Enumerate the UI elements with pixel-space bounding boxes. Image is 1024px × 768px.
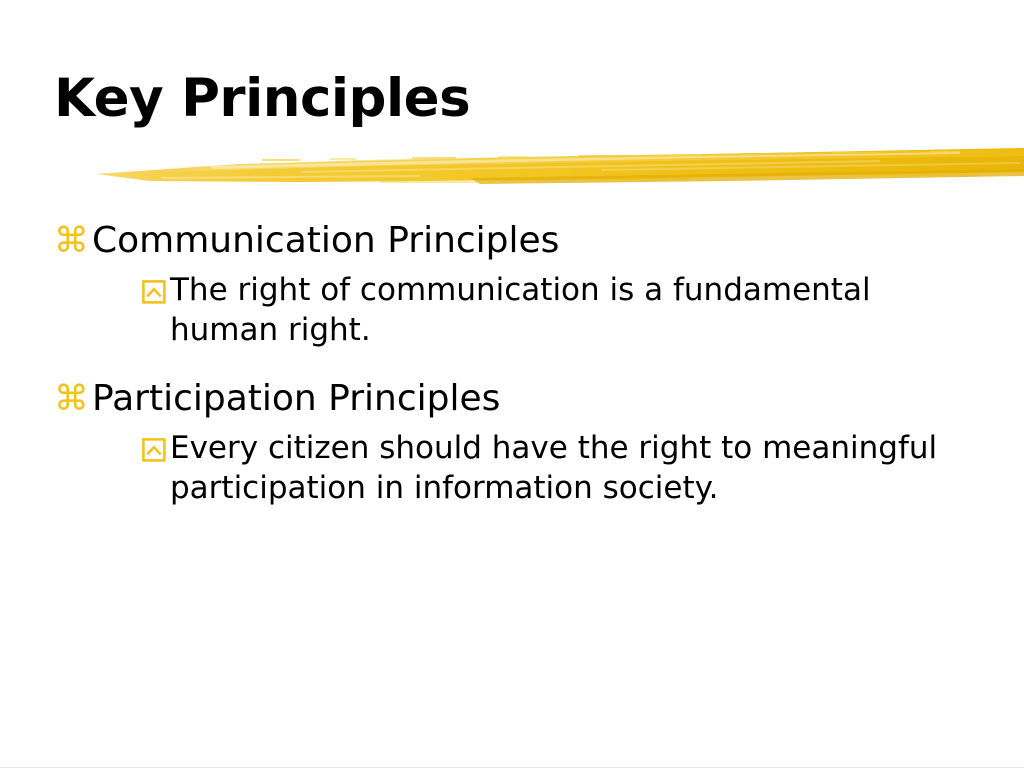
content-body: ⌘ Communication Principles The right of … (54, 218, 994, 518)
bullet-level1: ⌘ Participation Principles (54, 376, 994, 422)
box-chevron-bullet-icon (142, 438, 168, 462)
brush-stroke-divider (0, 138, 1024, 196)
bullet-level1: ⌘ Communication Principles (54, 218, 994, 264)
bullet-level1-label: Participation Principles (92, 376, 500, 422)
page-title: Key Principles (54, 72, 954, 125)
title-block: Key Principles (54, 72, 954, 142)
bullet-level1-label: Communication Principles (92, 218, 559, 264)
place-of-interest-bullet-icon: ⌘ (54, 376, 92, 422)
slide-canvas: Key Principles (0, 0, 1024, 768)
group-spacer (54, 360, 994, 376)
bullet-level2: The right of communication is a fundamen… (142, 270, 994, 350)
bullet-level2: Every citizen should have the right to m… (142, 428, 994, 508)
box-chevron-bullet-icon (142, 280, 168, 304)
bullet-level2-label: The right of communication is a fundamen… (170, 270, 980, 350)
bullet-level2-label: Every citizen should have the right to m… (170, 428, 980, 508)
place-of-interest-bullet-icon: ⌘ (54, 218, 92, 264)
